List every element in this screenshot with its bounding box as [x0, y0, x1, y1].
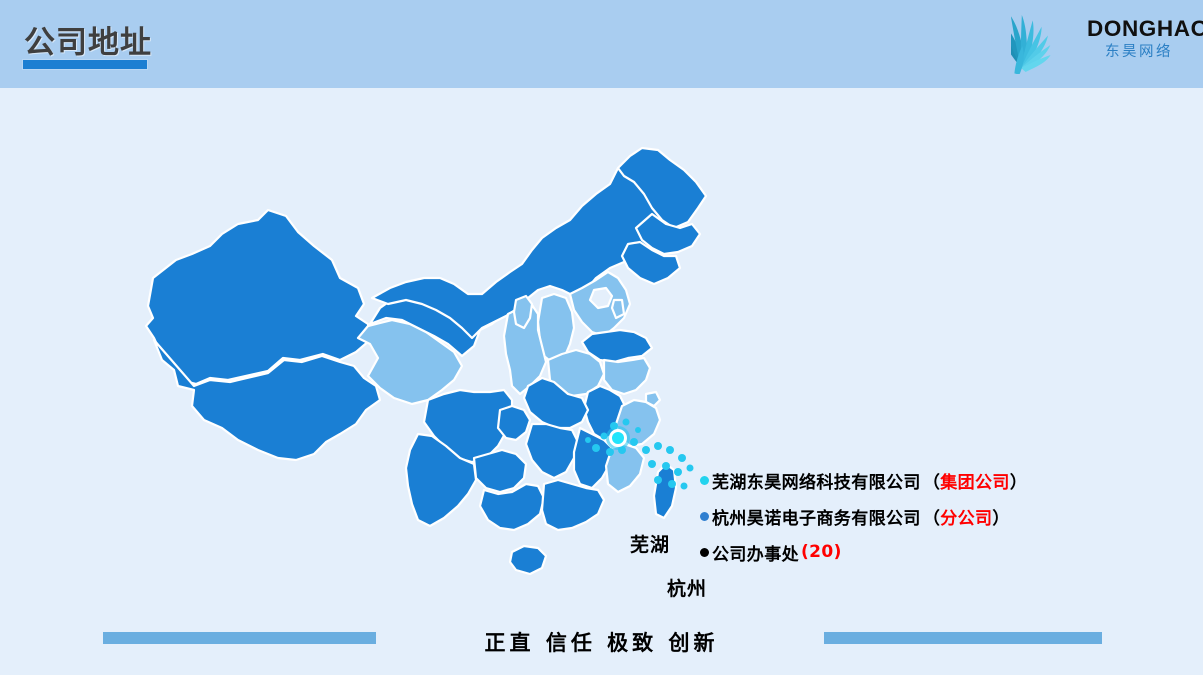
legend-tag: （分公司） [923, 504, 1010, 529]
logo-name: DONGHAO [1087, 18, 1191, 41]
legend-label: 公司办事处 [712, 540, 799, 565]
legend-item-group-company[interactable]: 芜湖东昊网络科技有限公司 （集团公司） [700, 462, 1120, 498]
legend-tag: (20) [801, 542, 842, 562]
province-tianjin [612, 300, 624, 318]
province-xinjiang [146, 210, 370, 384]
legend-label: 芜湖东昊网络科技有限公司 [712, 468, 921, 493]
headquarters-marker-wuhu [606, 426, 630, 450]
china-map[interactable]: 芜湖 杭州 [118, 128, 718, 608]
legend-tag-text: (20) [801, 542, 842, 562]
province-jiangsu [604, 358, 650, 394]
company-logo: DONGHAO 东昊网络 [1011, 6, 1191, 74]
legend-tag-text: 分公司 [940, 509, 992, 529]
province-taiwan [654, 464, 676, 518]
logo-text-block: DONGHAO 东昊网络 [1087, 18, 1191, 59]
legend-bullet-black [700, 548, 709, 557]
map-city-label-wuhu: 芜湖 [630, 530, 670, 557]
china-map-svg [118, 128, 718, 608]
legend-item-branch-company[interactable]: 杭州昊诺电子商务有限公司 （分公司） [700, 498, 1120, 534]
province-guizhou [474, 450, 526, 492]
map-city-label-hangzhou: 杭州 [667, 574, 707, 601]
slide-canvas: 公司地址 [0, 0, 1203, 675]
legend-tag-text: 集团公司 [940, 473, 1010, 493]
page-title: 公司地址 [24, 17, 152, 62]
legend-label: 杭州昊诺电子商务有限公司 [712, 504, 921, 529]
legend-bullet-blue [700, 512, 709, 521]
province-guangxi [480, 484, 544, 530]
fan-feather-icon [1011, 6, 1089, 74]
legend-tag-open: （ [923, 509, 940, 529]
footer-bar-right [824, 632, 1102, 644]
logo-subtitle: 东昊网络 [1087, 45, 1191, 60]
province-hainan [510, 546, 546, 574]
legend-tag-open: （ [923, 473, 940, 493]
title-underline-bar [22, 59, 148, 70]
legend: 芜湖东昊网络科技有限公司 （集团公司） 杭州昊诺电子商务有限公司 （分公司） 公… [700, 462, 1120, 570]
province-guangdong [542, 480, 604, 530]
legend-tag-close: ） [992, 509, 1009, 529]
legend-item-offices[interactable]: 公司办事处 (20) [700, 534, 1120, 570]
province-chongqing [498, 406, 530, 440]
legend-bullet-cyan [700, 476, 709, 485]
province-hunan [526, 424, 578, 478]
legend-tag: （集团公司） [923, 468, 1027, 493]
legend-tag-close: ） [1010, 473, 1027, 493]
